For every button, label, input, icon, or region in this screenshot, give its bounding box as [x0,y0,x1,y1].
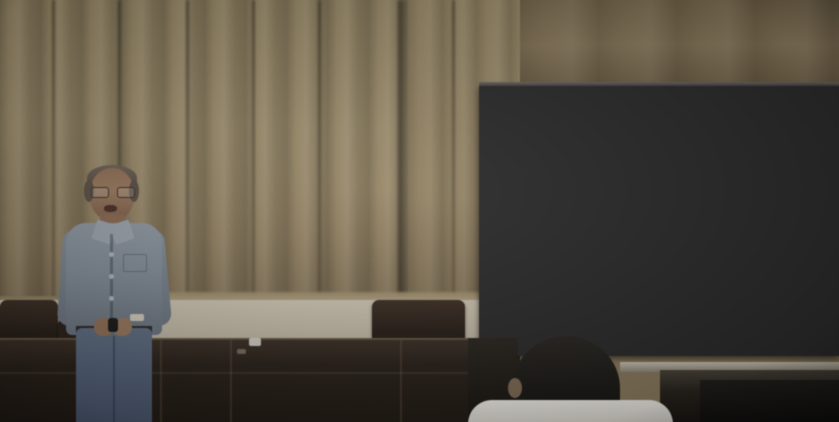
front-desk-shadow [700,380,839,422]
lecture-hall-photo: TIANJIN UNIVERSITY (PEIYANG UNIVERSITY) … [0,0,839,422]
shirt-button [109,296,114,301]
curtain-fold [252,0,255,330]
curtain-fold [318,0,321,330]
curtain-fold [186,0,189,330]
eyeglasses-icon [91,187,133,196]
shirt-button [109,274,114,279]
presenter-remote [108,318,118,332]
shirt-pocket [123,254,147,272]
curtain-fold [52,0,55,330]
stage-knob [237,349,246,354]
wristwatch-icon [130,314,144,321]
marker [249,338,261,346]
presenter-mouth [104,205,117,212]
audience-member-shoulders [468,400,673,422]
projection-screen-unit: TIANJIN UNIVERSITY (PEIYANG UNIVERSITY) … [479,86,839,356]
jeans-seam [113,336,115,422]
stage-panel-seam [400,340,402,422]
stage-panel-seam [230,340,232,422]
curtain-seam [398,0,408,330]
curtain-fold [452,0,455,330]
shirt-button [109,252,114,257]
upper-wall-texture [520,0,839,90]
presenter [60,168,170,422]
audience-member-ear [508,378,522,398]
